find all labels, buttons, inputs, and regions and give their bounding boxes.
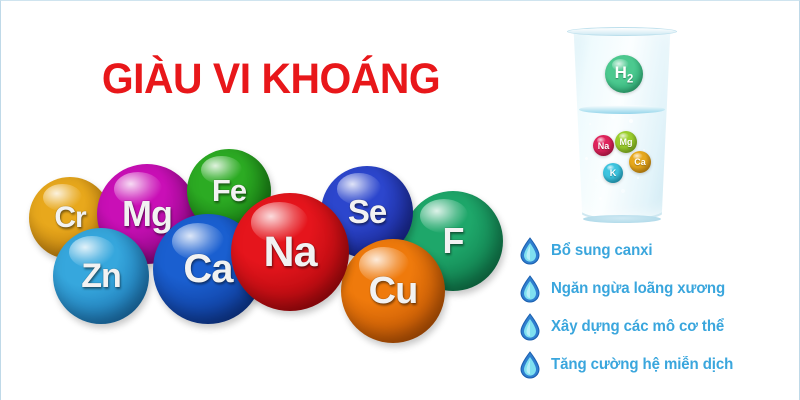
mineral-sphere-label: Cr bbox=[54, 201, 85, 235]
benefit-label: Ngăn ngừa loãng xương bbox=[551, 280, 725, 298]
water-fizz-bubble bbox=[621, 189, 625, 193]
water-fizz-bubble bbox=[611, 115, 615, 119]
mineral-sphere-label: Se bbox=[348, 193, 386, 231]
mineral-sphere-na: Na bbox=[231, 193, 349, 311]
glass-bubble-na: Na bbox=[593, 135, 614, 156]
water-fizz-bubble bbox=[585, 157, 588, 160]
benefit-item: Xây dựng các mô cơ thể bbox=[519, 309, 799, 345]
mineral-sphere-label: Mg bbox=[122, 193, 172, 235]
glass-bubble-label: Mg bbox=[620, 137, 633, 147]
water-fizz-bubble bbox=[637, 177, 639, 179]
mineral-sphere-label: Na bbox=[264, 228, 317, 277]
glass-bubble-label: H2 bbox=[615, 63, 634, 85]
water-fizz-bubble bbox=[589, 123, 591, 125]
glass-bubble-label: Ca bbox=[634, 157, 646, 167]
mineral-sphere-label: Ca bbox=[183, 247, 232, 292]
water-drop-icon bbox=[519, 275, 541, 303]
water-fizz-bubble bbox=[629, 119, 633, 123]
mineral-water-banner: GIÀU VI KHOÁNG CrZnMgFeCaNaSeCuF H2NaMgC… bbox=[0, 0, 800, 400]
water-surface bbox=[579, 105, 665, 114]
benefit-label: Bổ sung canxi bbox=[551, 242, 653, 260]
glass-rim bbox=[567, 27, 677, 36]
glass-bubble-label: K bbox=[610, 168, 617, 178]
glass-bubble-k: K bbox=[603, 163, 623, 183]
benefit-label: Xây dựng các mô cơ thể bbox=[551, 318, 724, 336]
mineral-sphere-label: F bbox=[443, 220, 464, 262]
water-drop-icon bbox=[519, 313, 541, 341]
glass-bubble-ca: Ca bbox=[629, 151, 651, 173]
mineral-sphere-label: Zn bbox=[81, 257, 121, 296]
mineral-sphere-cu: Cu bbox=[341, 239, 445, 343]
glass-bubble-h: H2 bbox=[605, 55, 643, 93]
water-fizz-bubble bbox=[599, 197, 602, 200]
mineral-sphere-label: Fe bbox=[212, 173, 246, 209]
water-fizz-bubble bbox=[595, 179, 598, 182]
water-glass-illustration: H2NaMgCaK bbox=[559, 19, 685, 234]
benefit-list: Bổ sung canxiNgăn ngừa loãng xươngXây dự… bbox=[519, 233, 799, 385]
glass-bubble-label: Na bbox=[598, 141, 610, 151]
mineral-sphere-label: Cu bbox=[369, 270, 418, 313]
glass-base bbox=[583, 215, 661, 223]
benefit-label: Tăng cường hệ miễn dịch bbox=[551, 356, 733, 374]
benefit-item: Ngăn ngừa loãng xương bbox=[519, 271, 799, 307]
water-drop-icon bbox=[519, 351, 541, 379]
benefit-item: Tăng cường hệ miễn dịch bbox=[519, 347, 799, 383]
mineral-sphere-zn: Zn bbox=[53, 228, 149, 324]
glass-bubble-mg: Mg bbox=[615, 131, 637, 153]
glass-bubble-subscript: 2 bbox=[627, 73, 633, 85]
mineral-sphere-cluster: CrZnMgFeCaNaSeCuF bbox=[1, 1, 521, 400]
water-drop-icon bbox=[519, 237, 541, 265]
benefit-item: Bổ sung canxi bbox=[519, 233, 799, 269]
